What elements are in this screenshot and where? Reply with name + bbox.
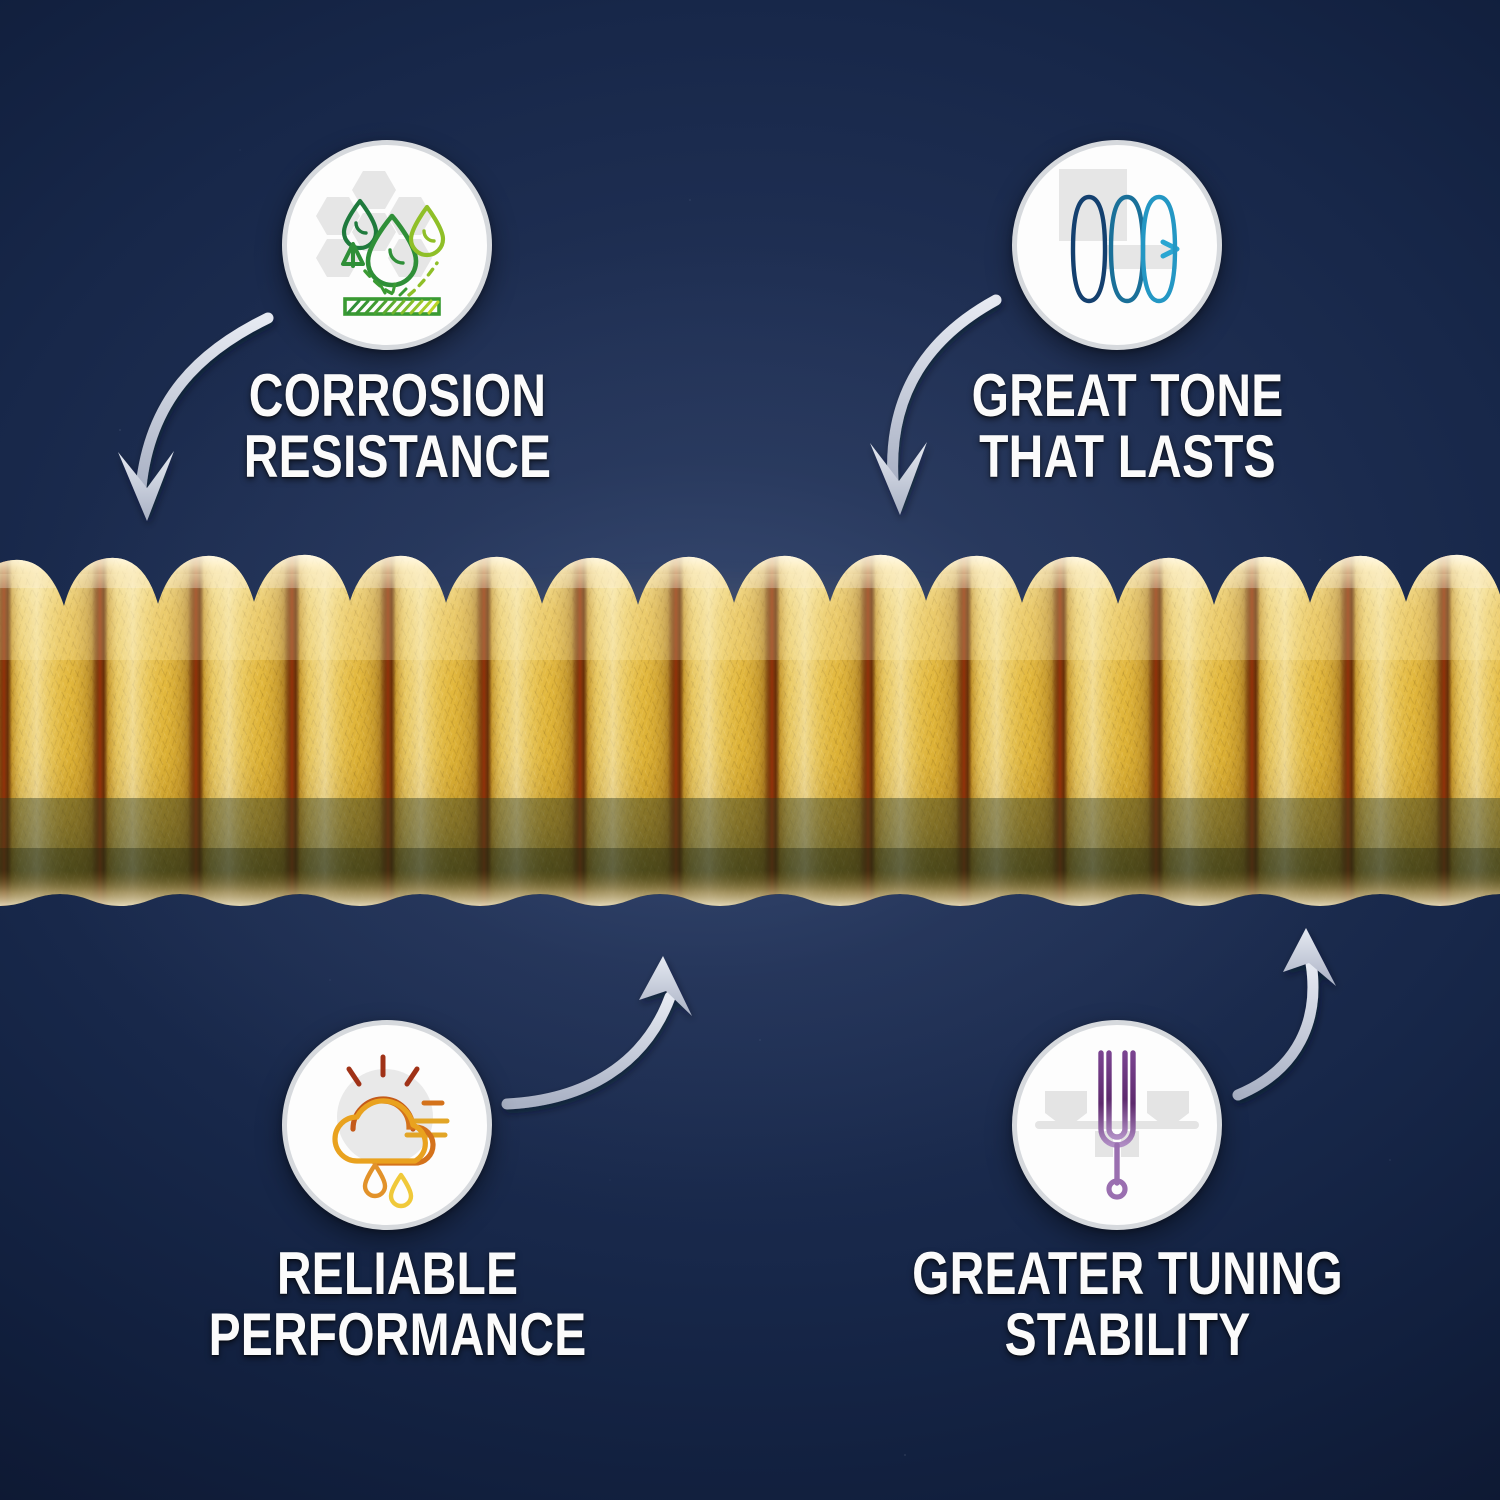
feature-icon-corrosion-resistance: [282, 140, 492, 350]
tuning-fork-balance-icon: [1017, 1025, 1217, 1225]
sound-wave-icon: [1017, 145, 1217, 345]
label-great-tone-that-lasts: GREAT TONE THAT LASTS: [902, 365, 1354, 487]
sun-cloud-rain-weather-icon: [287, 1025, 487, 1225]
feature-icon-reliable-performance: [282, 1020, 492, 1230]
water-droplets-coating-icon: [287, 145, 487, 345]
label-greater-tuning-stability: GREATER TUNING STABILITY: [886, 1243, 1370, 1365]
feature-icon-greater-tuning-stability: [1012, 1020, 1222, 1230]
promo-graphic: CORROSION RESISTANCE GREAT TONE THAT LAS…: [0, 0, 1500, 1500]
label-corrosion-resistance: CORROSION RESISTANCE: [172, 365, 624, 487]
label-reliable-performance: RELIABLE PERFORMANCE: [164, 1243, 632, 1365]
guitar-string-image: [0, 548, 1500, 948]
feature-icon-great-tone: [1012, 140, 1222, 350]
arrow-reliable-performance: [507, 956, 692, 1104]
gold-coil-string: [0, 548, 1500, 948]
